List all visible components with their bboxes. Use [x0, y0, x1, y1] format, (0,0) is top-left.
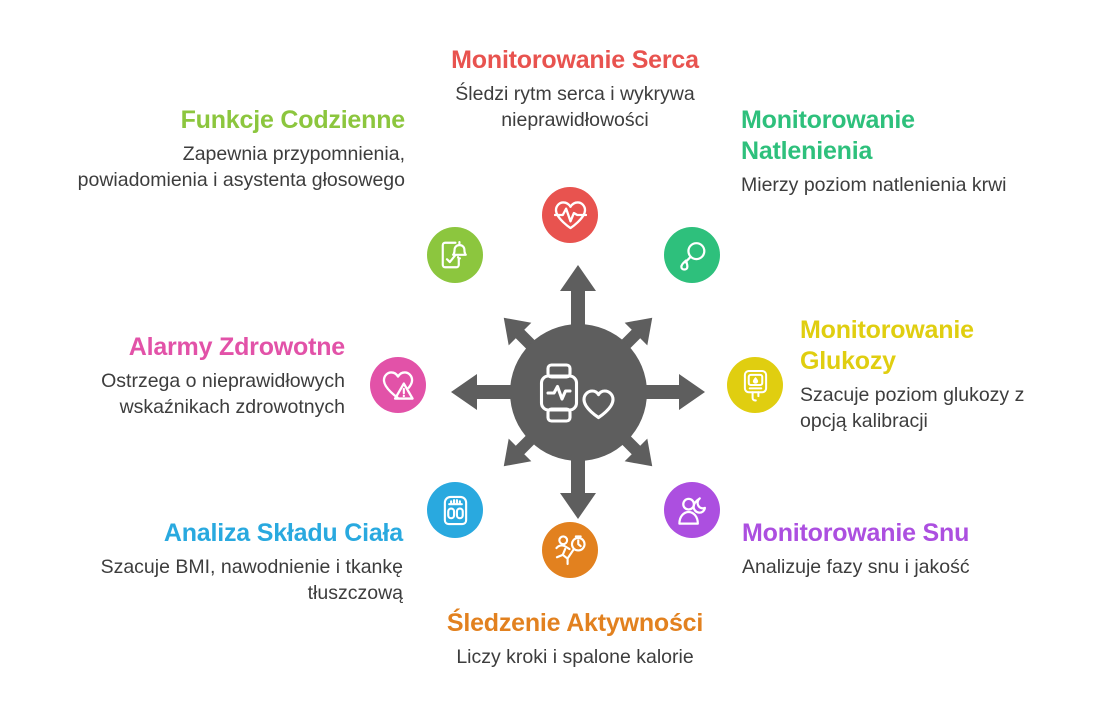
blood-drop-icon — [677, 240, 708, 271]
bubble-oxygen[interactable] — [664, 227, 720, 283]
weight-scale-icon — [441, 495, 470, 526]
feature-desc-activity: Liczy kroki i spalone kalorie — [390, 644, 760, 670]
feature-title-activity: Śledzenie Aktywności — [390, 608, 760, 639]
feature-title-oxygen: Monitorowanie Natlenienia — [741, 105, 1021, 167]
feature-title-body: Analiza Składu Ciała — [55, 518, 403, 549]
feature-text-activity: Śledzenie Aktywności Liczy kroki i spalo… — [390, 608, 760, 670]
bubble-alerts[interactable] — [370, 357, 426, 413]
smartwatch-ecg-icon — [541, 365, 576, 421]
infographic-canvas: Monitorowanie Serca Śledzi rytm serca i … — [0, 0, 1100, 711]
feature-desc-body: Szacuje BMI, nawodnienie i tkankę tłuszc… — [55, 554, 403, 606]
person-moon-icon — [676, 495, 708, 526]
feature-title-glucose: Monitorowanie Glukozy — [800, 315, 1075, 377]
feature-text-sleep: Monitorowanie Snu Analizuje fazy snu i j… — [742, 518, 1072, 580]
feature-desc-glucose: Szacuje poziom glukozy z opcją kalibracj… — [800, 382, 1075, 434]
running-stopwatch-icon — [554, 534, 587, 566]
bubble-sleep[interactable] — [664, 482, 720, 538]
feature-text-heart: Monitorowanie Serca Śledzi rytm serca i … — [390, 45, 760, 133]
feature-text-oxygen: Monitorowanie Natlenienia Mierzy poziom … — [741, 105, 1021, 198]
feature-text-body: Analiza Składu Ciała Szacuje BMI, nawodn… — [55, 518, 403, 606]
feature-text-daily: Funkcje Codzienne Zapewnia przypomnienia… — [50, 105, 405, 193]
heart-warning-icon — [382, 370, 415, 401]
bubble-body[interactable] — [427, 482, 483, 538]
feature-title-heart: Monitorowanie Serca — [390, 45, 760, 76]
heart-pulse-icon — [554, 200, 587, 230]
bubble-activity[interactable] — [542, 522, 598, 578]
heart-icon — [584, 391, 613, 418]
bubble-glucose[interactable] — [727, 357, 783, 413]
feature-title-daily: Funkcje Codzienne — [50, 105, 405, 136]
feature-desc-sleep: Analizuje fazy snu i jakość — [742, 554, 1072, 580]
feature-title-sleep: Monitorowanie Snu — [742, 518, 1072, 549]
feature-text-glucose: Monitorowanie Glukozy Szacuje poziom glu… — [800, 315, 1075, 434]
feature-desc-heart: Śledzi rytm serca i wykrywa nieprawidłow… — [390, 81, 760, 133]
glucose-meter-icon — [742, 369, 769, 402]
phone-bell-icon — [439, 239, 471, 271]
feature-desc-daily: Zapewnia przypomnienia, powiadomienia i … — [50, 141, 405, 193]
feature-desc-oxygen: Mierzy poziom natlenienia krwi — [741, 172, 1021, 198]
bubble-daily[interactable] — [427, 227, 483, 283]
bubble-heart[interactable] — [542, 187, 598, 243]
feature-title-alerts: Alarmy Zdrowotne — [10, 332, 345, 363]
feature-text-alerts: Alarmy Zdrowotne Ostrzega o nieprawidłow… — [10, 332, 345, 420]
central-hub — [510, 324, 647, 461]
feature-desc-alerts: Ostrzega o nieprawidłowych wskaźnikach z… — [10, 368, 345, 420]
